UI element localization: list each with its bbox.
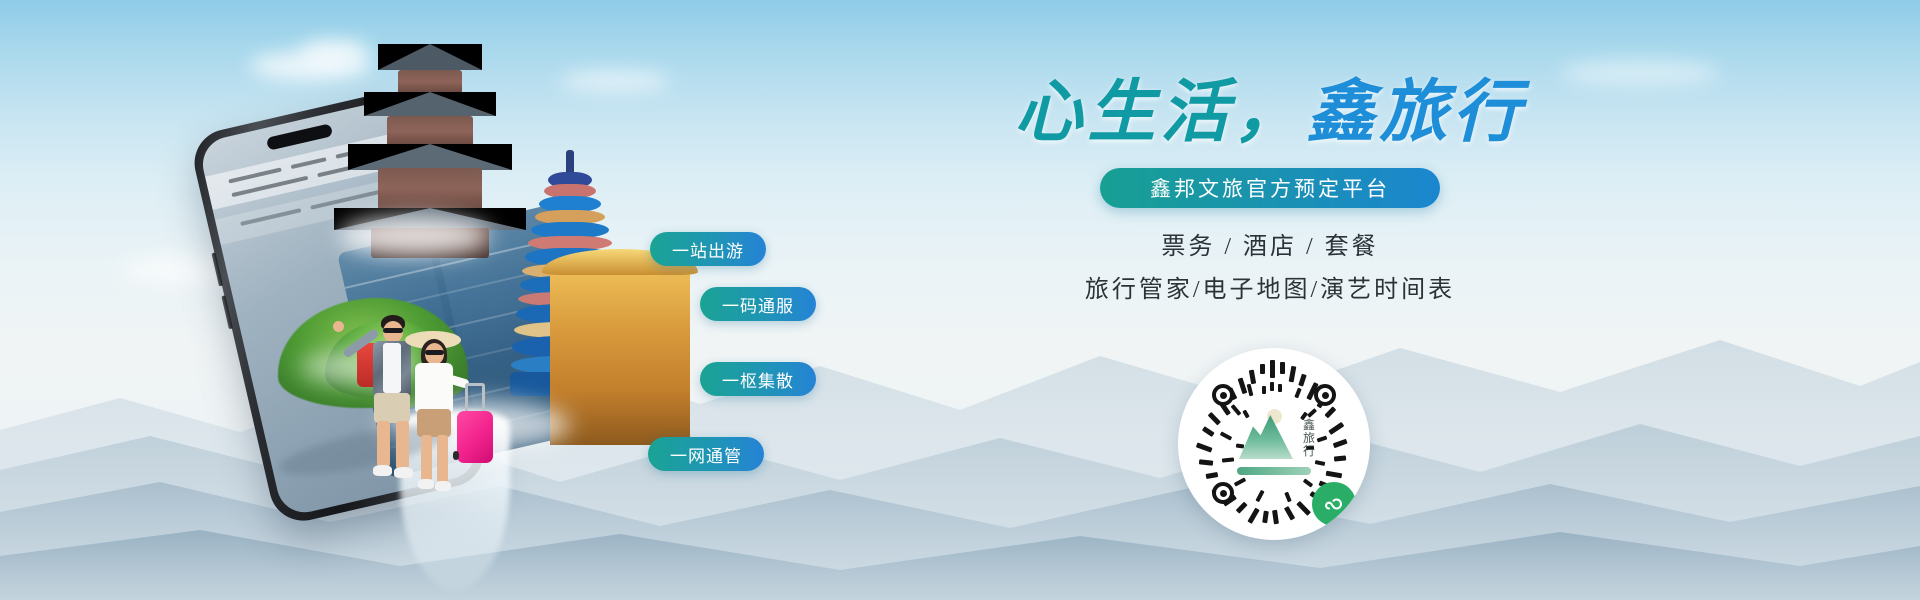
qr-finder-eye [1314,384,1336,406]
wechat-miniprogram-icon [1312,482,1356,526]
page-title: 心生活，鑫旅行 [1010,78,1530,146]
feature-pill-one-hub-transfer[interactable]: 一枢集散 [700,362,816,396]
feature-pill-one-net-management[interactable]: 一网通管 [648,437,764,471]
feature-pill-label: 一枢集散 [722,367,794,392]
qr-finder-eye [1212,482,1234,504]
brand-logo: 鑫旅行 [1231,407,1317,481]
mountain-icon [1239,415,1293,459]
feature-pill-label: 一码通服 [722,292,794,317]
qr-code[interactable]: 鑫旅行 [1178,348,1370,540]
feature-pill-label: 一站出游 [672,237,744,262]
feature-pill-one-code-service[interactable]: 一码通服 [700,287,816,321]
logo-base-stroke [1237,467,1311,475]
qr-code-disc: 鑫旅行 [1178,348,1370,540]
travel-promo-banner: 一站出游 一码通服 一枢集散 一网通管 心生活，鑫旅行 鑫邦文旅官方预定平台 票… [0,0,1920,600]
badge-label: 鑫邦文旅官方预定平台 [1150,173,1390,203]
feature-pill-label: 一网通管 [670,442,742,467]
service-line-primary: 票务 / 酒店 / 套餐 [1010,226,1530,261]
headline-comma: ， [1233,74,1306,150]
headline-part-teal: 心生活 [1014,74,1233,150]
qr-finder-eye [1212,384,1234,406]
status-badge[interactable]: 鑫邦文旅官方预定平台 [1100,168,1440,208]
brand-name: 鑫旅行 [1303,419,1319,458]
service-line-secondary: 旅行管家/电子地图/演艺时间表 [1010,269,1530,304]
feature-pill-one-stop-travel[interactable]: 一站出游 [650,232,766,266]
promo-copy-block: 心生活，鑫旅行 鑫邦文旅官方预定平台 票务 / 酒店 / 套餐 旅行管家/电子地… [1010,78,1530,304]
feature-pill-list: 一站出游 一码通服 一枢集散 一网通管 [0,0,1920,600]
headline-part-blue: 鑫旅行 [1307,74,1526,150]
